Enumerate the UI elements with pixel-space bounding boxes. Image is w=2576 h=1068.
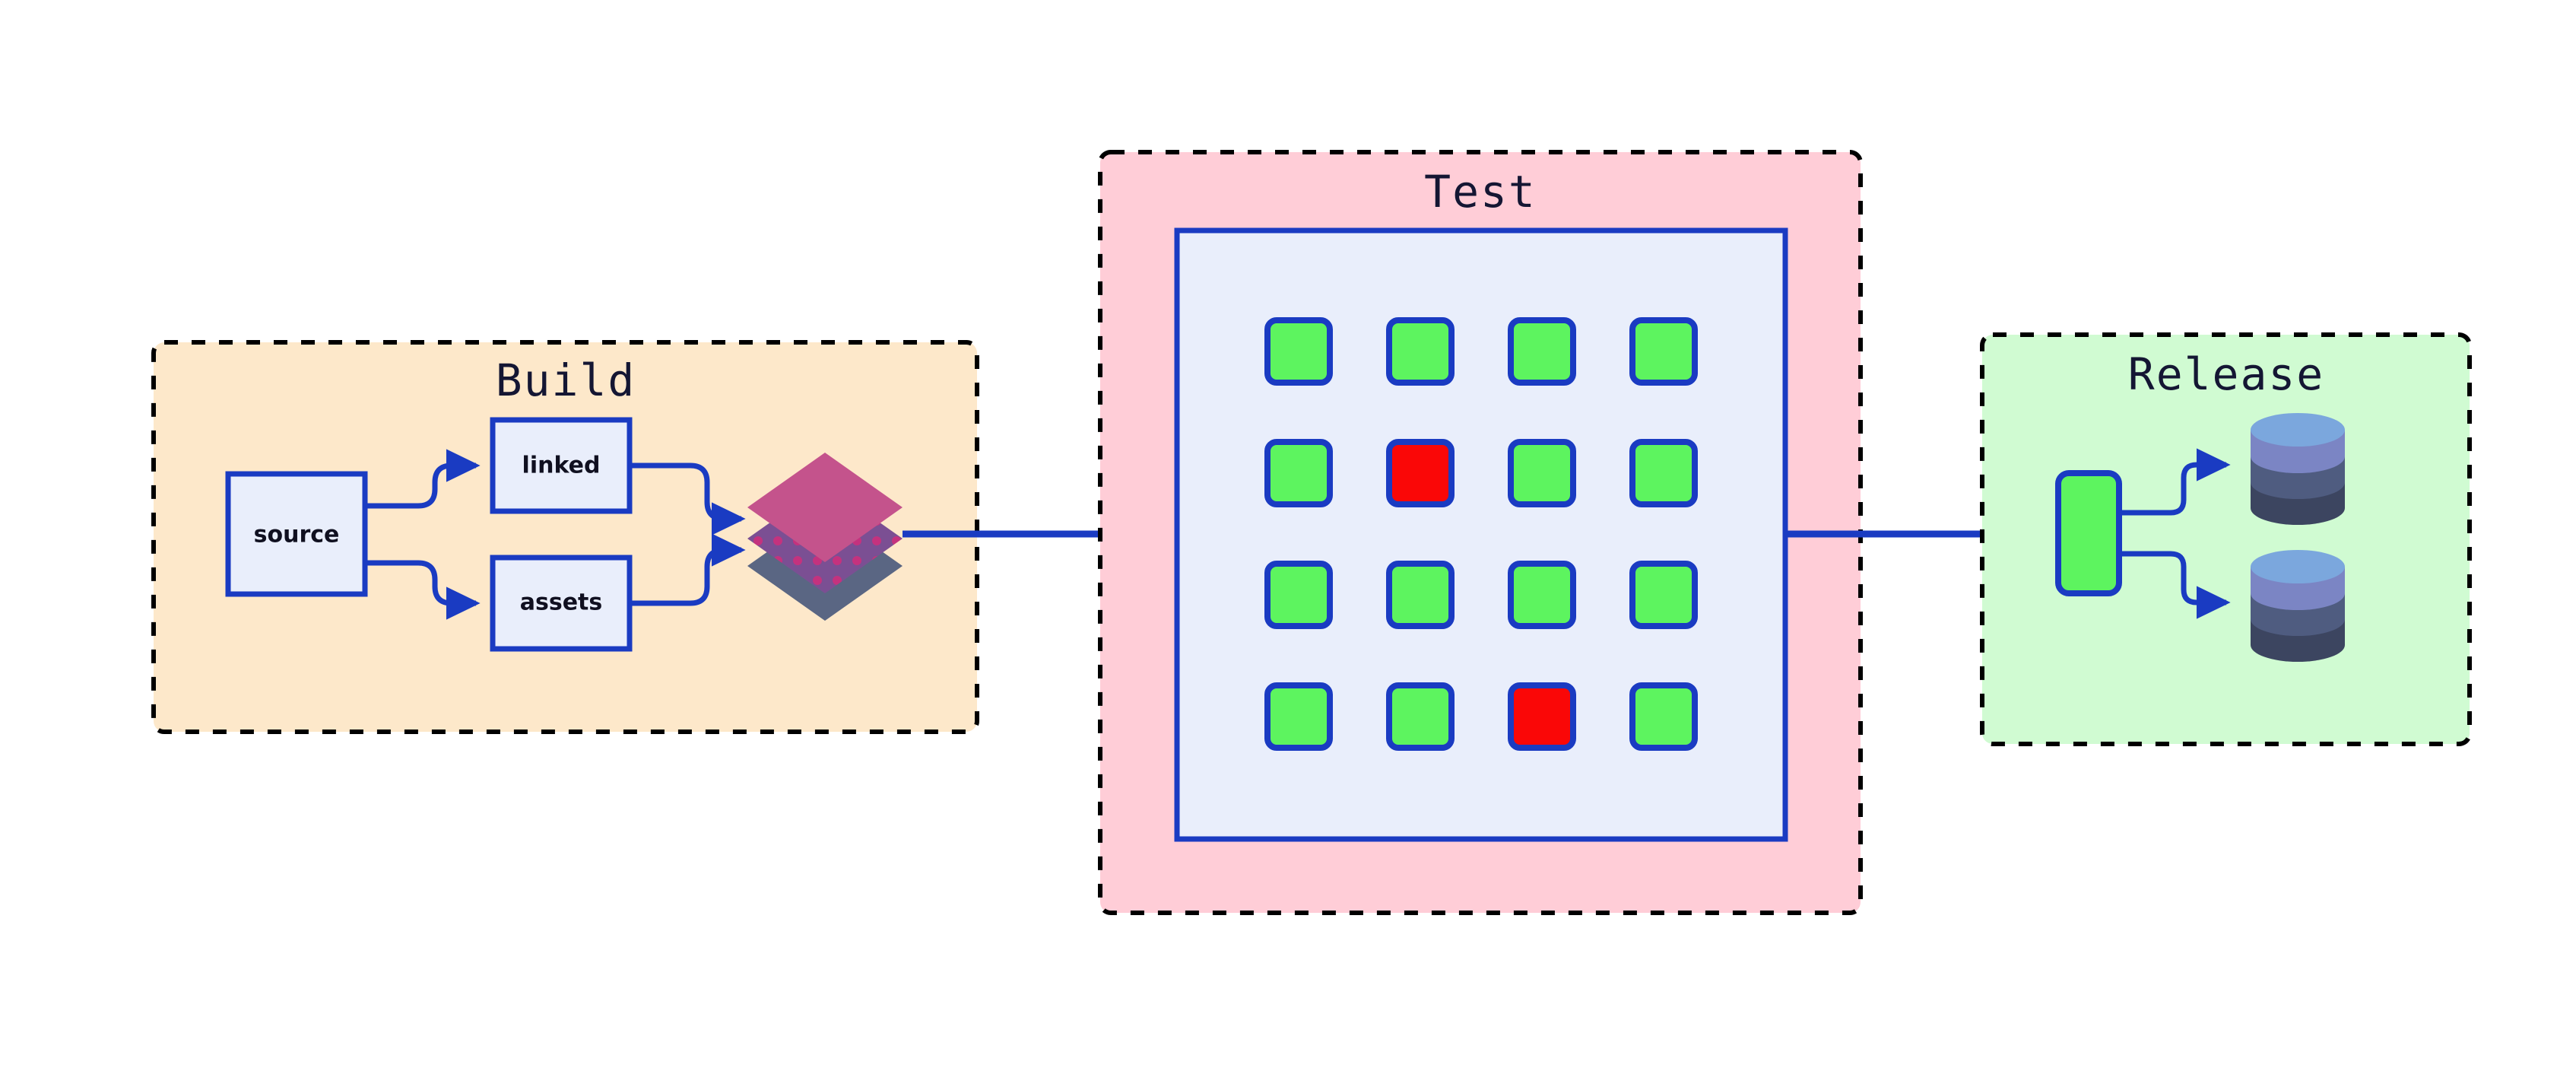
database-primary xyxy=(2251,413,2345,525)
node-source-label: source xyxy=(254,522,340,548)
database-replica-top xyxy=(2251,550,2345,583)
test-cell-r3c2[interactable] xyxy=(1389,564,1451,626)
release-artifact-rect xyxy=(2058,473,2119,593)
node-assets[interactable]: assets xyxy=(493,558,630,649)
node-linked-label: linked xyxy=(522,453,601,479)
stage-test-title: Test xyxy=(1424,166,1537,218)
database-icon[interactable] xyxy=(2251,413,2345,525)
stage-release-title: Release xyxy=(2128,348,2324,400)
test-cell-r2c3[interactable] xyxy=(1511,442,1573,504)
database-icon[interactable] xyxy=(2251,550,2345,662)
stage-release[interactable]: Release xyxy=(1982,335,2470,744)
test-cell-r2c1[interactable] xyxy=(1267,442,1330,504)
test-cell-r4c3[interactable] xyxy=(1511,685,1573,748)
database-replica xyxy=(2251,550,2345,662)
test-cell-r1c3[interactable] xyxy=(1511,320,1573,383)
stage-test[interactable]: Test xyxy=(1100,152,1861,913)
test-cell-r4c4[interactable] xyxy=(1632,685,1695,748)
stage-build[interactable]: Build source linked assets xyxy=(154,342,977,732)
test-cell-r1c1[interactable] xyxy=(1267,320,1330,383)
node-linked[interactable]: linked xyxy=(493,420,630,511)
green-block-icon[interactable] xyxy=(2058,473,2119,593)
test-cell-r2c2[interactable] xyxy=(1389,442,1451,504)
test-cell-r3c1[interactable] xyxy=(1267,564,1330,626)
test-cell-r1c4[interactable] xyxy=(1632,320,1695,383)
node-assets-label: assets xyxy=(520,590,603,616)
database-primary-top xyxy=(2251,413,2345,447)
test-cell-r2c4[interactable] xyxy=(1632,442,1695,504)
test-cell-r4c1[interactable] xyxy=(1267,685,1330,748)
test-cell-r3c3[interactable] xyxy=(1511,564,1573,626)
test-cell-r4c2[interactable] xyxy=(1389,685,1451,748)
pipeline-diagram: Build source linked assets xyxy=(0,0,2576,1068)
test-cell-r1c2[interactable] xyxy=(1389,320,1451,383)
test-cell-r3c4[interactable] xyxy=(1632,564,1695,626)
node-source[interactable]: source xyxy=(228,474,365,594)
diagram-canvas: Build source linked assets xyxy=(0,0,2576,1068)
stage-build-title: Build xyxy=(496,354,636,406)
